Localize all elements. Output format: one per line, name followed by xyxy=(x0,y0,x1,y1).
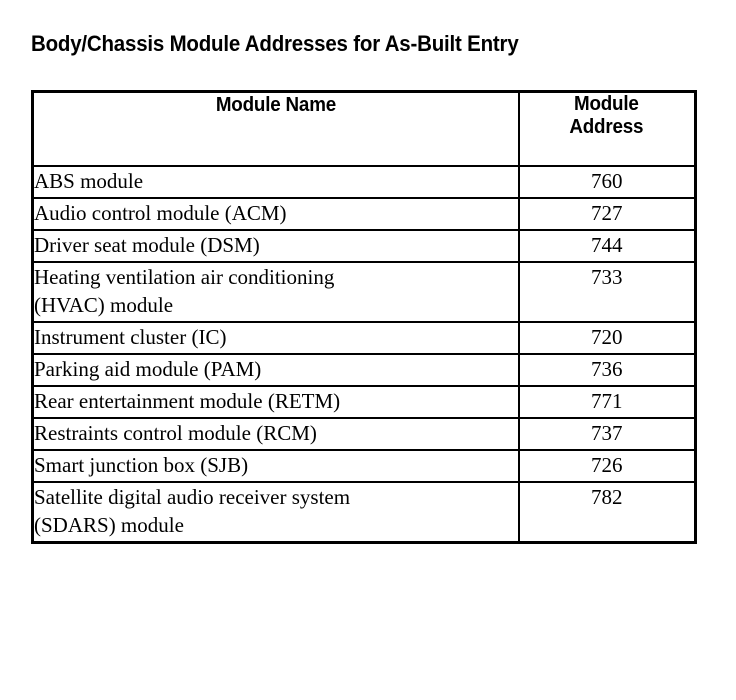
cell-module-name: Satellite digital audio receiver system … xyxy=(33,482,519,543)
cell-module-name: Restraints control module (RCM) xyxy=(33,418,519,450)
cell-module-address: 736 xyxy=(519,354,696,386)
page-title: Body/Chassis Module Addresses for As-Bui… xyxy=(31,31,626,57)
cell-module-address: 737 xyxy=(519,418,696,450)
document-page: Body/Chassis Module Addresses for As-Bui… xyxy=(0,0,736,700)
module-address-table: Module Name Module Address ABS module760… xyxy=(31,90,697,544)
table-row: Driver seat module (DSM)744 xyxy=(33,230,696,262)
cell-module-address: 720 xyxy=(519,322,696,354)
table-row: Restraints control module (RCM)737 xyxy=(33,418,696,450)
table-row: ABS module760 xyxy=(33,166,696,198)
table-row: Rear entertainment module (RETM)771 xyxy=(33,386,696,418)
cell-module-name: Parking aid module (PAM) xyxy=(33,354,519,386)
cell-module-address: 771 xyxy=(519,386,696,418)
column-header-module-name: Module Name xyxy=(33,92,519,167)
table-row: Smart junction box (SJB)726 xyxy=(33,450,696,482)
cell-module-name: Instrument cluster (IC) xyxy=(33,322,519,354)
cell-module-address: 760 xyxy=(519,166,696,198)
cell-module-name: ABS module xyxy=(33,166,519,198)
column-header-module-address-label: Module Address xyxy=(570,93,644,139)
cell-module-name: Smart junction box (SJB) xyxy=(33,450,519,482)
cell-module-name: Driver seat module (DSM) xyxy=(33,230,519,262)
table-row: Audio control module (ACM)727 xyxy=(33,198,696,230)
cell-module-address: 726 xyxy=(519,450,696,482)
column-header-module-name-label: Module Name xyxy=(216,93,336,117)
table-row: Instrument cluster (IC)720 xyxy=(33,322,696,354)
table-header-row: Module Name Module Address xyxy=(33,92,696,167)
cell-module-address: 727 xyxy=(519,198,696,230)
column-header-module-address: Module Address xyxy=(519,92,696,167)
table-header: Module Name Module Address xyxy=(33,92,696,167)
table-row: Parking aid module (PAM)736 xyxy=(33,354,696,386)
cell-module-address: 744 xyxy=(519,230,696,262)
cell-module-name: Rear entertainment module (RETM) xyxy=(33,386,519,418)
table-container: Module Name Module Address ABS module760… xyxy=(31,90,694,544)
cell-module-name: Heating ventilation air conditioning (HV… xyxy=(33,262,519,322)
cell-module-name: Audio control module (ACM) xyxy=(33,198,519,230)
cell-module-address: 733 xyxy=(519,262,696,322)
table-body: ABS module760Audio control module (ACM)7… xyxy=(33,166,696,543)
table-row: Heating ventilation air conditioning (HV… xyxy=(33,262,696,322)
cell-module-address: 782 xyxy=(519,482,696,543)
table-row: Satellite digital audio receiver system … xyxy=(33,482,696,543)
